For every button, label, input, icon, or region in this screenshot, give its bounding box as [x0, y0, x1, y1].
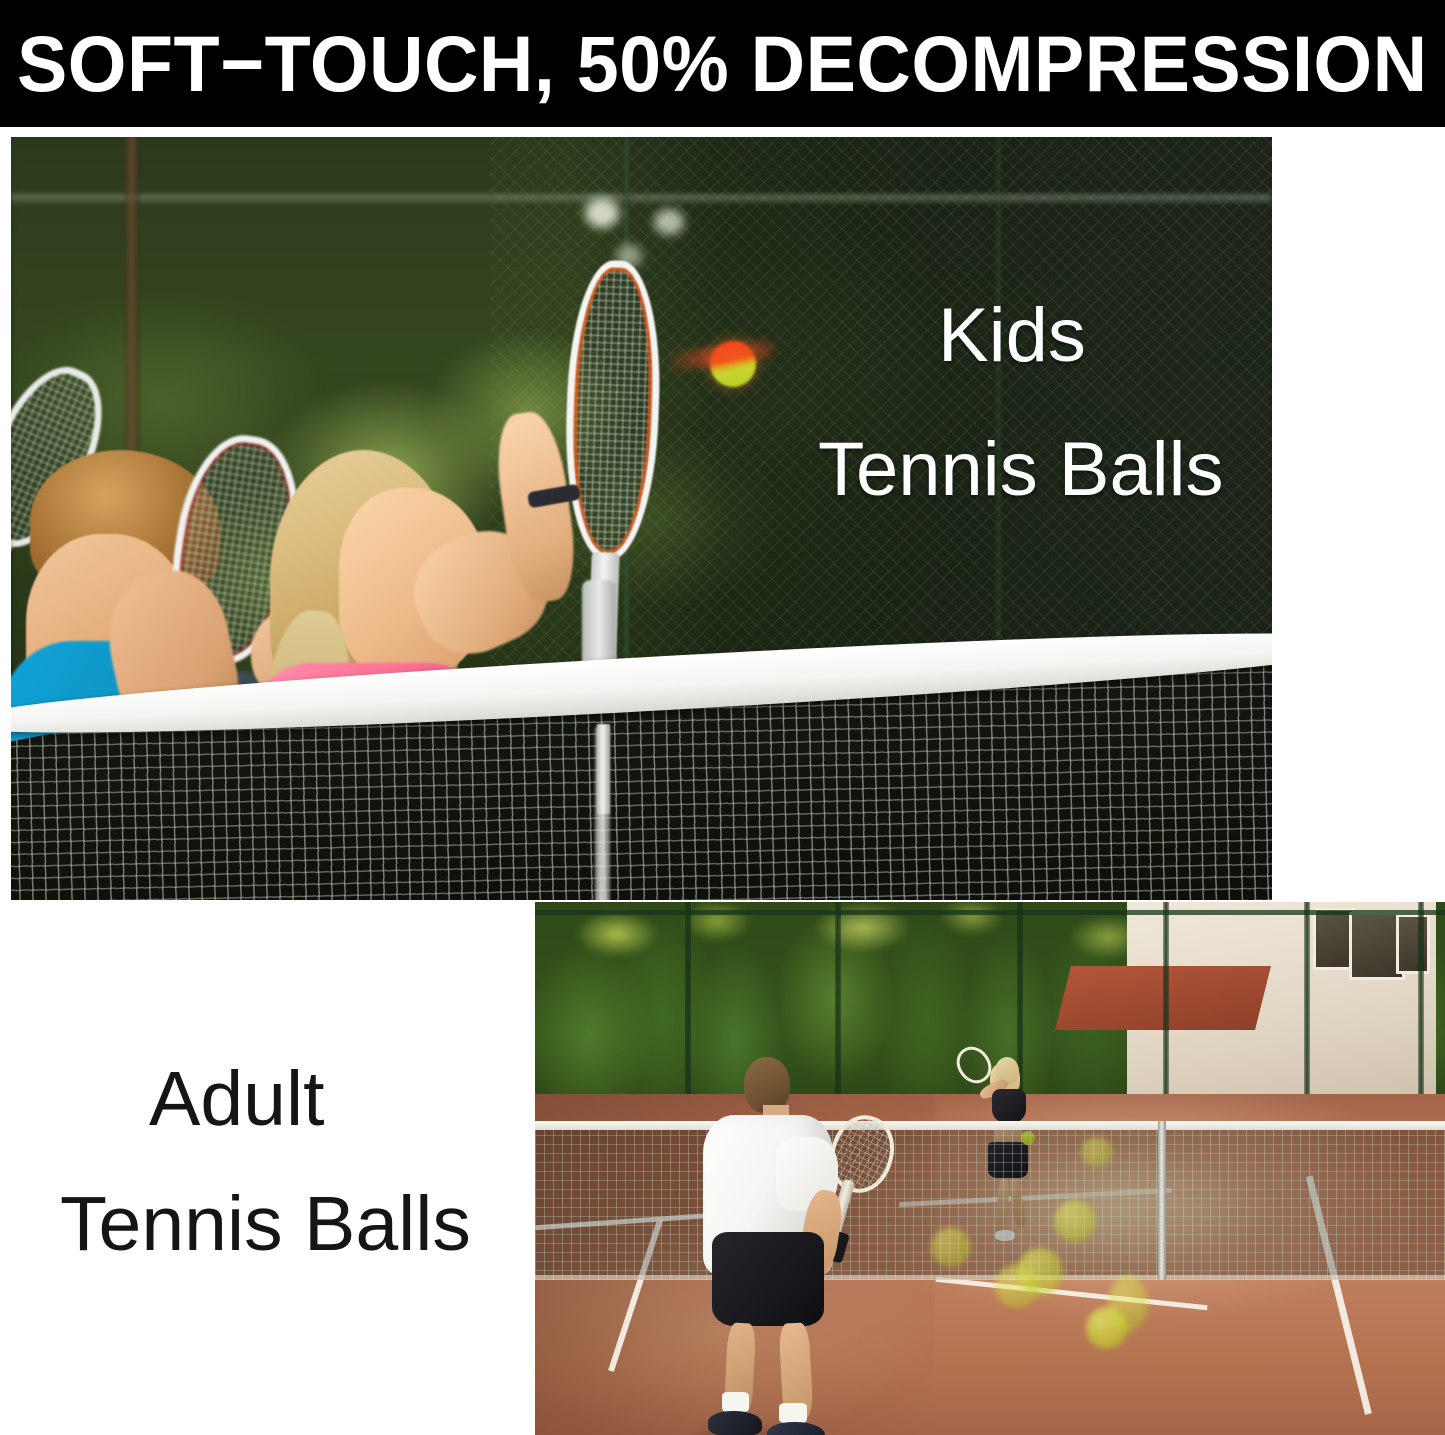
header-banner: SOFT−TOUCH, 50% DECOMPRESSION: [0, 0, 1445, 127]
tennis-net: [535, 1121, 1445, 1281]
man-shoe: [708, 1411, 762, 1435]
net-post-cap: [597, 724, 610, 814]
net-headband: [535, 1121, 1445, 1130]
fence-post: [124, 137, 140, 503]
adult-caption-line1: Adult: [149, 1057, 325, 1141]
man-sock: [779, 1403, 807, 1423]
man-sock: [722, 1392, 749, 1412]
kids-tennis-ball: [710, 341, 756, 387]
house-window: [1396, 914, 1430, 974]
adult-tennis-ball: [931, 1227, 971, 1267]
light-flare: [585, 198, 619, 228]
adult-photo-panel: [535, 902, 1445, 1435]
man-shorts: [712, 1232, 824, 1326]
adult-tennis-ball: [1086, 1307, 1128, 1349]
adult-tennis-ball: [995, 1264, 1039, 1308]
kids-overlay-line1: Kids: [938, 295, 1086, 377]
product-infographic: SOFT−TOUCH, 50% DECOMPRESSION: [0, 0, 1445, 1435]
tennis-net: [11, 580, 1272, 900]
woman-sports-top: [992, 1089, 1026, 1123]
banner-headline: SOFT−TOUCH, 50% DECOMPRESSION: [17, 16, 1365, 112]
kids-photo-panel: Kids Tennis Balls: [11, 137, 1272, 900]
adult-tennis-ball: [1081, 1137, 1113, 1167]
adult-tennis-ball: [1054, 1200, 1096, 1242]
net-lower-cord: [535, 1275, 1445, 1280]
adult-caption-line2: Tennis Balls: [60, 1182, 471, 1266]
kids-overlay-line2: Tennis Balls: [818, 429, 1224, 511]
net-post: [1158, 1121, 1166, 1281]
fence-rail: [11, 194, 1272, 204]
